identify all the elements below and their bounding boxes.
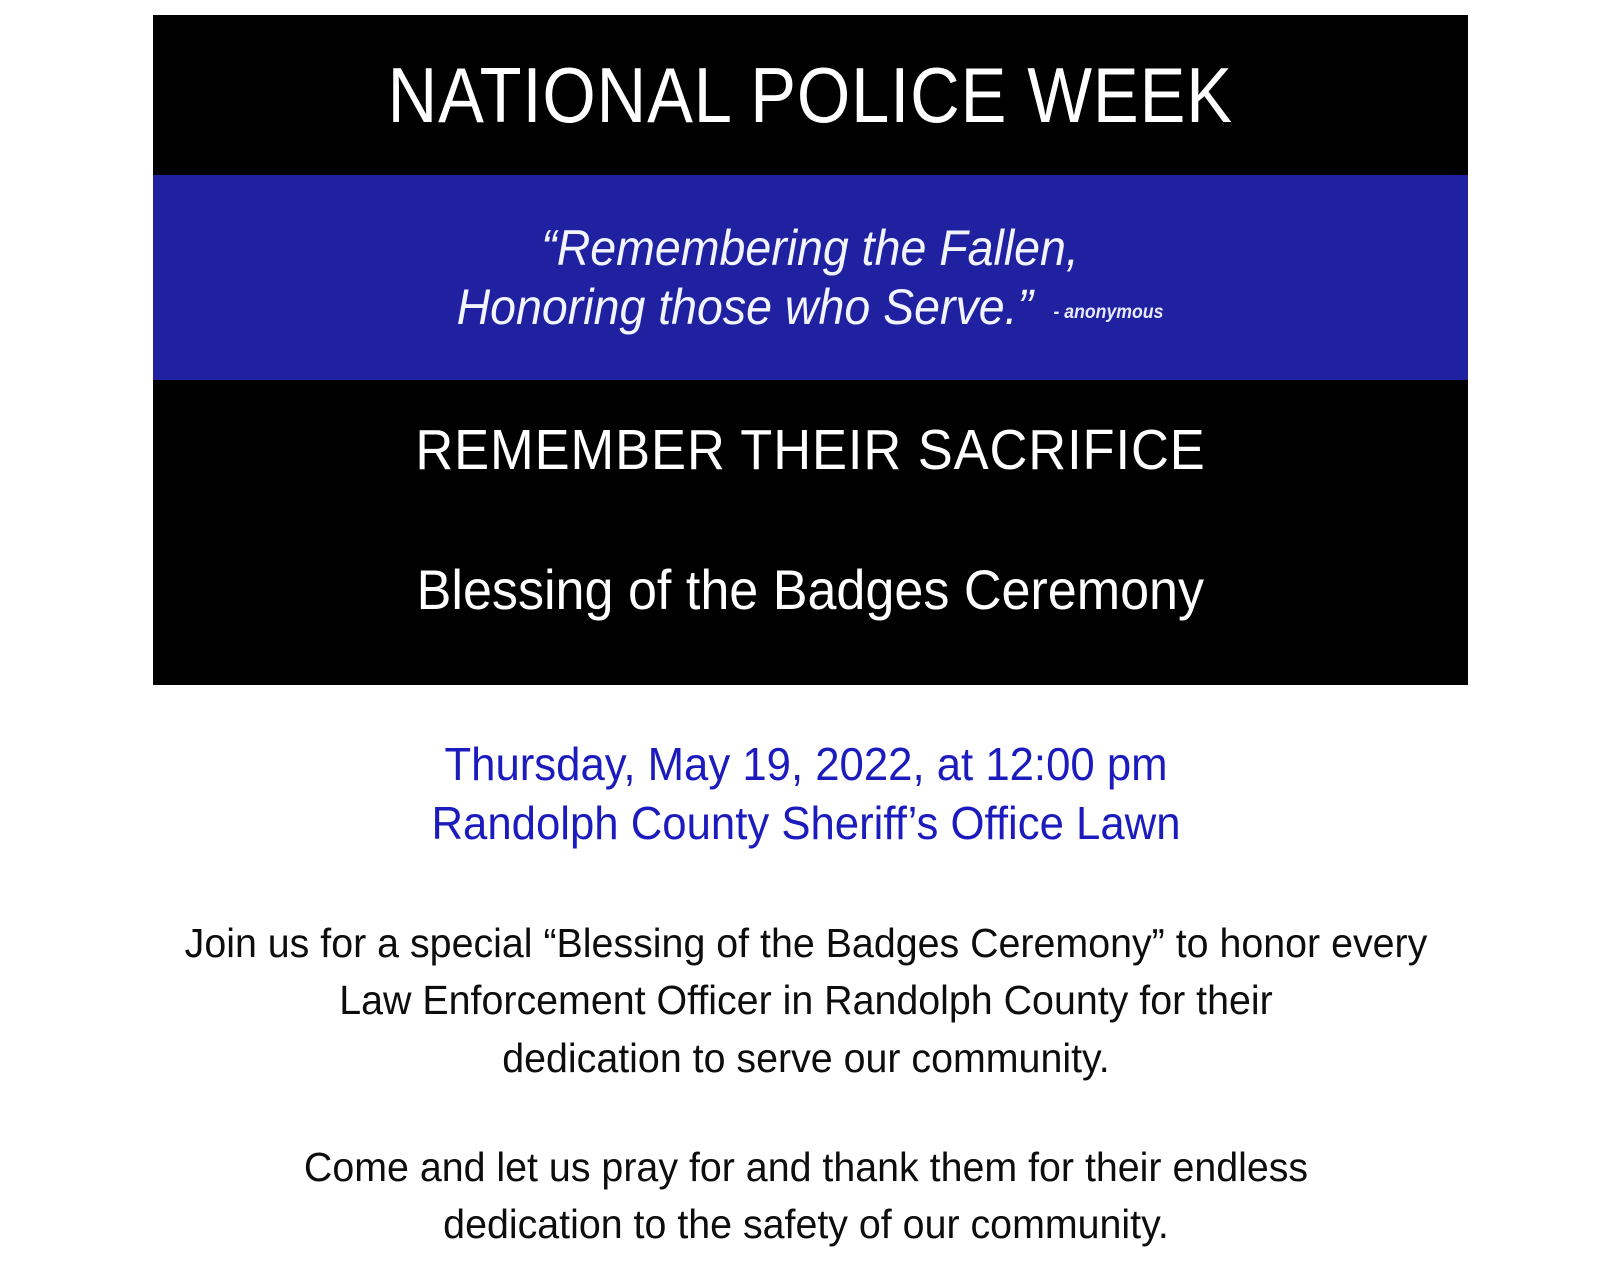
closing-paragraph: Come and let us pray for and thank them …: [32, 1139, 1580, 1254]
event-location: Randolph County Sheriff’s Office Lawn: [40, 794, 1571, 853]
remember-their-sacrifice-heading: REMEMBER THEIR SACRIFICE: [415, 422, 1205, 479]
quote-attribution: - anonymous: [1054, 302, 1164, 324]
banner-title: NATIONAL POLICE WEEK: [388, 56, 1233, 134]
event-details: Thursday, May 19, 2022, at 12:00 pm Rand…: [40, 735, 1571, 853]
invitation-line-2: Law Enforcement Officer in Randolph Coun…: [32, 972, 1580, 1029]
sacrifice-area: REMEMBER THEIR SACRIFICE: [153, 380, 1468, 520]
closing-line-1: Come and let us pray for and thank them …: [32, 1139, 1580, 1196]
ceremony-area: Blessing of the Badges Ceremony: [153, 525, 1468, 655]
closing-line-2: dedication to the safety of our communit…: [32, 1196, 1580, 1253]
flyer-content: Thursday, May 19, 2022, at 12:00 pm Rand…: [0, 685, 1612, 1254]
quote-line-2-row: Honoring those who Serve.” - anonymous: [457, 278, 1164, 337]
police-week-banner: NATIONAL POLICE WEEK “Remembering the Fa…: [153, 15, 1468, 685]
event-datetime: Thursday, May 19, 2022, at 12:00 pm: [40, 735, 1571, 794]
invitation-paragraph: Join us for a special “Blessing of the B…: [32, 915, 1580, 1087]
invitation-line-3: dedication to serve our community.: [32, 1030, 1580, 1087]
quote-line-1: “Remembering the Fallen,: [542, 219, 1080, 278]
invitation-line-1: Join us for a special “Blessing of the B…: [32, 915, 1580, 972]
quote-line-2: Honoring those who Serve.”: [457, 278, 1033, 337]
flyer-page: NATIONAL POLICE WEEK “Remembering the Fa…: [0, 0, 1612, 1271]
banner-title-area: NATIONAL POLICE WEEK: [153, 15, 1468, 175]
ceremony-title: Blessing of the Badges Ceremony: [417, 562, 1204, 618]
thin-blue-line-band: “Remembering the Fallen, Honoring those …: [153, 175, 1468, 380]
